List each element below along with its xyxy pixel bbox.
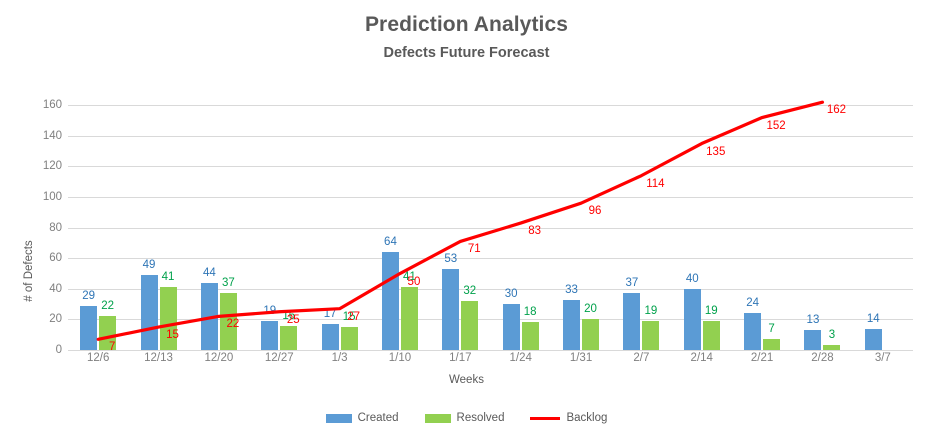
x-axis-tick-label: 2/28 <box>811 352 833 364</box>
x-axis-tick-label: 2/14 <box>691 352 713 364</box>
legend-item[interactable]: Created <box>326 412 399 424</box>
backlog-point-label: 27 <box>347 311 360 323</box>
legend-label: Backlog <box>566 412 607 424</box>
legend-line-swatch-icon <box>530 417 560 420</box>
chart-title: Prediction Analytics <box>0 13 933 37</box>
x-axis-tick-label: 1/10 <box>389 352 411 364</box>
x-axis-tick-label: 12/20 <box>205 352 234 364</box>
x-axis-tick-label: 12/13 <box>144 352 173 364</box>
chart-legend: CreatedResolvedBacklog <box>0 412 933 424</box>
backlog-point-label: 135 <box>706 146 725 158</box>
y-axis-tick-label: 40 <box>22 283 62 295</box>
x-axis-tick-label: 12/6 <box>87 352 109 364</box>
backlog-point-label: 22 <box>226 318 239 330</box>
x-axis-tick-label: 12/27 <box>265 352 294 364</box>
x-axis-title: Weeks <box>0 374 933 386</box>
y-axis-tick-label: 140 <box>22 130 62 142</box>
x-axis-tick-label: 2/21 <box>751 352 773 364</box>
y-axis-tick-label: 100 <box>22 191 62 203</box>
x-axis-tick-label: 1/17 <box>449 352 471 364</box>
legend-bar-swatch-icon <box>326 414 352 423</box>
y-axis-tick-label: 20 <box>22 313 62 325</box>
backlog-polyline[interactable] <box>98 102 822 339</box>
y-axis-tick-label: 80 <box>22 222 62 234</box>
x-axis-line <box>68 350 913 351</box>
x-axis-ticks: 12/612/1312/2012/271/31/101/171/241/312/… <box>68 352 913 372</box>
legend-bar-swatch-icon <box>425 414 451 423</box>
backlog-point-label: 152 <box>767 120 786 132</box>
legend-item[interactable]: Backlog <box>530 412 607 424</box>
y-axis-tick-label: 0 <box>22 344 62 356</box>
legend-item[interactable]: Resolved <box>425 412 505 424</box>
chart-subtitle: Defects Future Forecast <box>0 45 933 61</box>
x-axis-tick-label: 2/7 <box>633 352 649 364</box>
x-axis-tick-label: 3/7 <box>875 352 891 364</box>
x-axis-tick-label: 1/3 <box>332 352 348 364</box>
y-axis-ticks: 020406080100120140160 <box>16 90 62 350</box>
y-axis-tick-label: 60 <box>22 252 62 264</box>
backlog-line <box>68 90 913 350</box>
legend-label: Created <box>358 412 399 424</box>
legend-label: Resolved <box>457 412 505 424</box>
backlog-point-label: 114 <box>646 178 664 190</box>
backlog-point-label: 25 <box>287 314 300 326</box>
chart-container: Prediction Analytics Defects Future Fore… <box>0 0 933 442</box>
x-axis-tick-label: 1/31 <box>570 352 592 364</box>
plot-area: 2922494144371916171564415332301833203719… <box>68 90 913 350</box>
backlog-point-label: 71 <box>468 243 481 255</box>
backlog-point-label: 15 <box>166 329 179 341</box>
y-axis-tick-label: 120 <box>22 160 62 172</box>
backlog-point-label: 162 <box>827 104 846 116</box>
backlog-point-label: 83 <box>528 225 541 237</box>
backlog-point-label: 96 <box>589 205 602 217</box>
y-axis-tick-label: 160 <box>22 99 62 111</box>
backlog-point-label: 50 <box>408 276 421 288</box>
x-axis-tick-label: 1/24 <box>509 352 531 364</box>
